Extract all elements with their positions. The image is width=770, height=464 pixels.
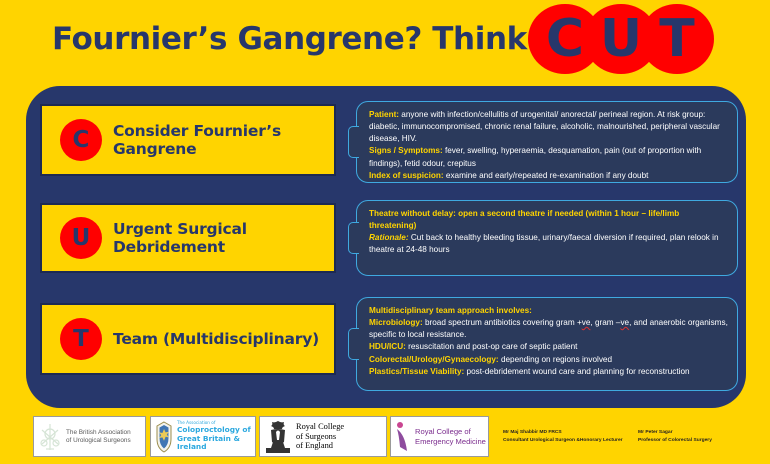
step-badge-t: T [60, 318, 102, 360]
step-label-u: Urgent Surgical Debridement [113, 220, 334, 256]
logo-british-association-urological-surgeons: The British Association of Urological Su… [33, 416, 146, 457]
cut-acronym: C U T [528, 4, 714, 74]
logo-royal-college-surgeons-england: Royal College of Surgeons of England [259, 416, 387, 457]
detail-text-u: Theatre without delay: open a second the… [369, 208, 728, 257]
callout-tab-icon [348, 328, 359, 360]
acronym-letter-t: T [640, 4, 714, 74]
row-consider: C Consider Fournier’s Gangrene Patient: … [26, 97, 746, 187]
step-label-c: Consider Fournier’s Gangrene [113, 122, 334, 158]
rcem-mark-icon [394, 421, 412, 453]
logo-association-coloproctology: The Association of Coloproctology of Gre… [150, 416, 256, 457]
credit-sagar: Mr Peter Sagar Professor of Colorectal S… [638, 429, 758, 444]
row-urgent: U Urgent Surgical Debridement Theatre wi… [26, 198, 746, 284]
baus-label: The British Association of Urological Su… [66, 429, 131, 445]
step-box-u[interactable]: U Urgent Surgical Debridement [40, 203, 336, 273]
callout-tab-icon [348, 222, 359, 254]
title-bar: Fournier’s Gangrene? Think C U T [0, 0, 770, 88]
step-badge-c: C [60, 119, 102, 161]
page-title: Fournier’s Gangrene? Think [52, 21, 527, 57]
logo-royal-college-emergency-medicine: Royal College of Emergency Medicine [390, 416, 489, 457]
acp-label: The Association of Coloproctology of Gre… [177, 421, 255, 452]
step-badge-u: U [60, 217, 102, 259]
rcs-label: Royal College of Surgeons of England [296, 422, 344, 452]
footer: The British Association of Urological Su… [0, 410, 770, 464]
step-label-t: Team (Multidisciplinary) [113, 330, 319, 348]
main-panel: C Consider Fournier’s Gangrene Patient: … [26, 86, 746, 408]
detail-text-c: Patient: anyone with infection/celluliti… [369, 109, 728, 182]
baus-crest-icon [37, 422, 63, 452]
step-box-t[interactable]: T Team (Multidisciplinary) [40, 303, 336, 375]
row-team: T Team (Multidisciplinary) Multidiscipli… [26, 295, 746, 396]
callout-tab-icon [348, 126, 359, 158]
detail-panel-c: Patient: anyone with infection/celluliti… [356, 101, 738, 183]
detail-text-t: Multidisciplinary team approach involves… [369, 305, 728, 378]
rcs-crest-icon [263, 420, 293, 454]
detail-panel-t: Multidisciplinary team approach involves… [356, 297, 738, 391]
detail-panel-u: Theatre without delay: open a second the… [356, 200, 738, 276]
rcem-label: Royal College of Emergency Medicine [415, 427, 486, 445]
credit-shabbir: Mr Maj Shabbir MD FRCS Consultant Urolog… [503, 429, 633, 444]
step-box-c[interactable]: C Consider Fournier’s Gangrene [40, 104, 336, 176]
acp-crest-icon [154, 421, 174, 453]
